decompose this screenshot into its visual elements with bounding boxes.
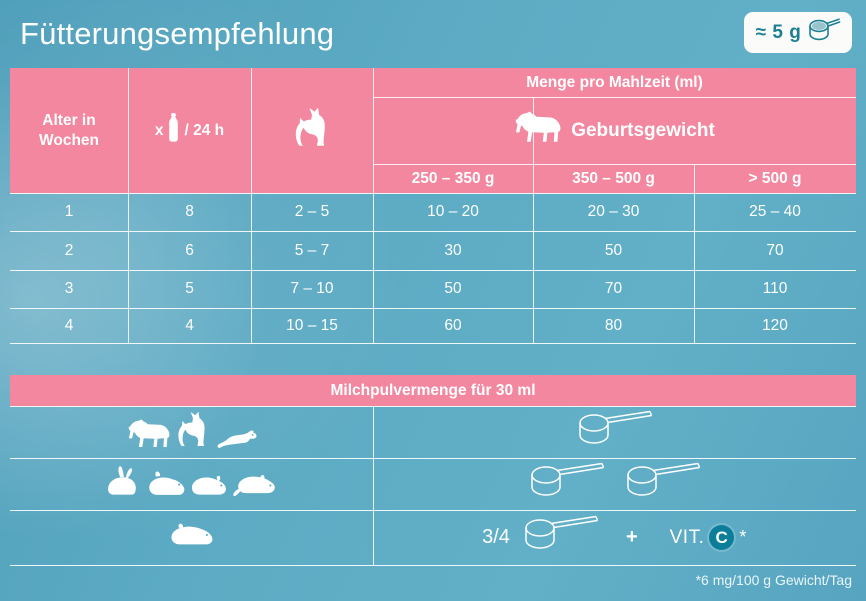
milk-powder-table: Milchpulvermenge für 30 ml [10,375,856,565]
list-item: 3/4 + VIT. C * [10,510,856,565]
table-row: 10 – 20 [373,193,533,231]
scoop-amount-row-3: 3/4 + VIT. C * [373,510,856,565]
measuring-scoop-icon [574,410,656,455]
table-row: 4 [10,308,128,343]
body-rule-4 [10,343,856,344]
table-row: 110 [694,270,856,308]
table-row: 70 [533,270,694,308]
chinchilla-icon [148,470,186,503]
cat-icon [175,411,211,454]
plus-sign: + [626,526,638,549]
cat-icon [292,107,332,155]
table-row: 20 – 30 [533,193,694,231]
header-birth-weight: Geburtsgewicht [373,97,856,164]
header-age-line1: Alter in [42,111,95,130]
scoop-weight-badge: ≈ 5 g [744,12,852,53]
rabbit-icon [107,466,143,503]
header-weight-350-500: 350 – 500 g [533,164,694,193]
table-row: 50 [373,270,533,308]
table-row: 6 [128,231,251,270]
header-birth-weight-label: Geburtsgewicht [571,119,715,143]
table-row: 50 [533,231,694,270]
guinea-pig-icon [191,473,227,503]
table-row: 7 – 10 [251,270,373,308]
table-row: 3 [10,270,128,308]
scoop-amount-row-2 [373,458,856,510]
header-bottle-suffix: / 24 h [184,121,224,140]
table-row: 1 [10,193,128,231]
measuring-scoop-icon [806,17,840,48]
feeding-table: Alter in Wochen x / 24 h Menge pro Mahlz… [10,68,856,343]
rat-icon [232,472,276,503]
hamster-icon [170,521,214,554]
table-row: 25 – 40 [694,193,856,231]
list-item [10,458,856,510]
table-row: 4 [128,308,251,343]
scoop-amount-row-1 [373,406,856,458]
vitamin-c-group: VIT. C * [670,525,747,550]
table-row: 30 [373,231,533,270]
table-row: 10 – 15 [251,308,373,343]
animal-group-hamster [10,510,373,565]
vitamin-c-badge: C [709,525,734,550]
dog-icon [127,418,171,454]
animal-group-large [10,406,373,458]
table-row: 8 [128,193,251,231]
badge-label: ≈ 5 g [756,22,802,44]
header-bottle-prefix: x [155,121,164,140]
milk-powder-header-label: Milchpulvermenge für 30 ml [331,382,536,400]
table-row: 5 – 7 [251,231,373,270]
table-row: 60 [373,308,533,343]
baby-bottle-icon [167,113,180,148]
fraction-label: 3/4 [482,526,510,549]
footnote-text: *6 mg/100 g Gewicht/Tag [696,572,852,588]
header-weight-over-500: > 500 g [694,164,856,193]
table-row: 70 [694,231,856,270]
table-row: 2 – 5 [251,193,373,231]
header-age-weeks: Alter in Wochen [10,68,128,193]
milk-powder-header: Milchpulvermenge für 30 ml [10,375,856,406]
header-cat-column [251,68,373,193]
table-row: 5 [128,270,251,308]
vitamin-label: VIT. [670,527,705,549]
table-row: 80 [533,308,694,343]
list-item [10,406,856,458]
header-feeds-per-day: x / 24 h [128,68,251,193]
table-row: 2 [10,231,128,270]
header-weight-250-350: 250 – 350 g [373,164,533,193]
dog-icon [514,110,562,151]
measuring-scoop-icon [622,462,704,507]
ferret-icon [215,427,257,454]
bottom-rule-3 [10,565,856,566]
measuring-scoop-icon [520,515,602,560]
header-amount-per-meal: Menge pro Mahlzeit (ml) [373,68,856,97]
footnote-marker: * [739,527,747,548]
header-age-line2: Wochen [39,131,99,150]
table-row: 120 [694,308,856,343]
measuring-scoop-icon [526,462,608,507]
animal-group-small [10,458,373,510]
page-title: Fütterungsempfehlung [20,16,334,52]
